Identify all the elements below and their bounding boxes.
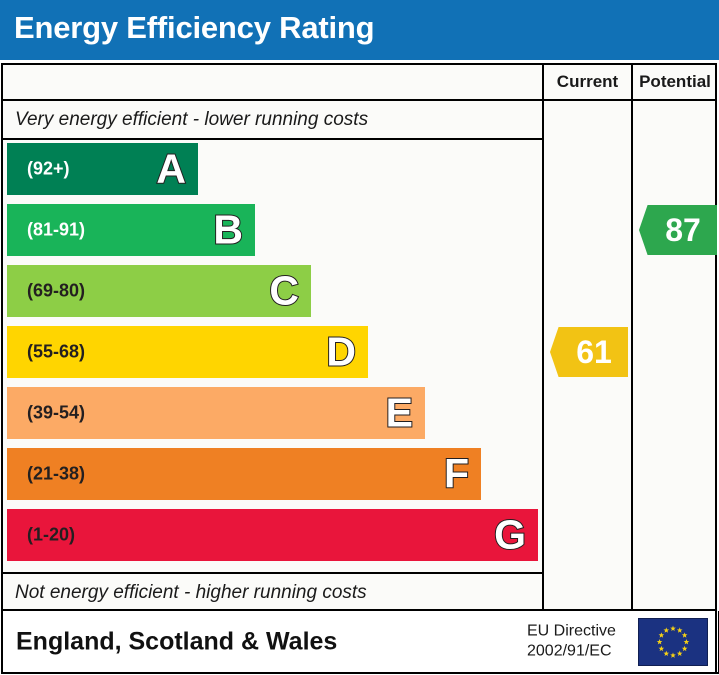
band-b-range: (81-91) (27, 220, 85, 241)
band-e-letter: E (386, 393, 413, 434)
band-c-letter: C (269, 271, 299, 312)
footer-bar: England, Scotland & Wales EU Directive 2… (1, 611, 717, 674)
footer-directive-line2: 2002/91/EC (527, 642, 616, 662)
band-c-range: (69-80) (27, 281, 85, 302)
eu-flag-icon (638, 618, 708, 666)
page-title: Energy Efficiency Rating (14, 10, 374, 46)
footer-directive: EU Directive 2002/91/EC (527, 621, 616, 662)
footer-region-label: England, Scotland & Wales (16, 627, 337, 656)
rating-table: Current Potential Very energy efficient … (1, 63, 717, 611)
band-f-range: (21-38) (27, 464, 85, 485)
band-c: (69-80)C (7, 265, 311, 317)
band-b: (81-91)B (7, 204, 255, 256)
caption-rule-bottom (3, 572, 542, 574)
band-f-letter: F (444, 454, 469, 495)
chart-title-bar: Energy Efficiency Rating (0, 0, 719, 60)
footer-directive-line1: EU Directive (527, 621, 616, 641)
band-g: (1-20)G (7, 509, 538, 561)
column-header-row: Current Potential (3, 65, 715, 101)
current-rating-badge: 61 (550, 327, 628, 377)
band-d: (55-68)D (7, 326, 368, 378)
band-a: (92+)A (7, 143, 198, 195)
caption-not-efficient: Not energy efficient - higher running co… (15, 582, 367, 604)
band-f: (21-38)F (7, 448, 481, 500)
column-divider-left (542, 65, 544, 609)
energy-efficiency-rating-chart: Energy Efficiency Rating Current Potenti… (0, 0, 719, 675)
band-d-letter: D (326, 332, 356, 373)
column-header-current: Current (544, 65, 631, 99)
band-e-range: (39-54) (27, 403, 85, 424)
caption-rule-top (3, 138, 542, 140)
column-divider-right (631, 65, 633, 609)
band-g-range: (1-20) (27, 525, 75, 546)
band-e: (39-54)E (7, 387, 425, 439)
band-b-letter: B (213, 210, 243, 251)
potential-rating-badge: 87 (639, 205, 717, 255)
caption-very-efficient: Very energy efficient - lower running co… (15, 109, 368, 131)
band-d-range: (55-68) (27, 342, 85, 363)
band-a-range: (92+) (27, 159, 70, 180)
column-header-potential: Potential (633, 65, 717, 99)
band-g-letter: G (494, 515, 526, 556)
band-a-letter: A (156, 149, 186, 190)
